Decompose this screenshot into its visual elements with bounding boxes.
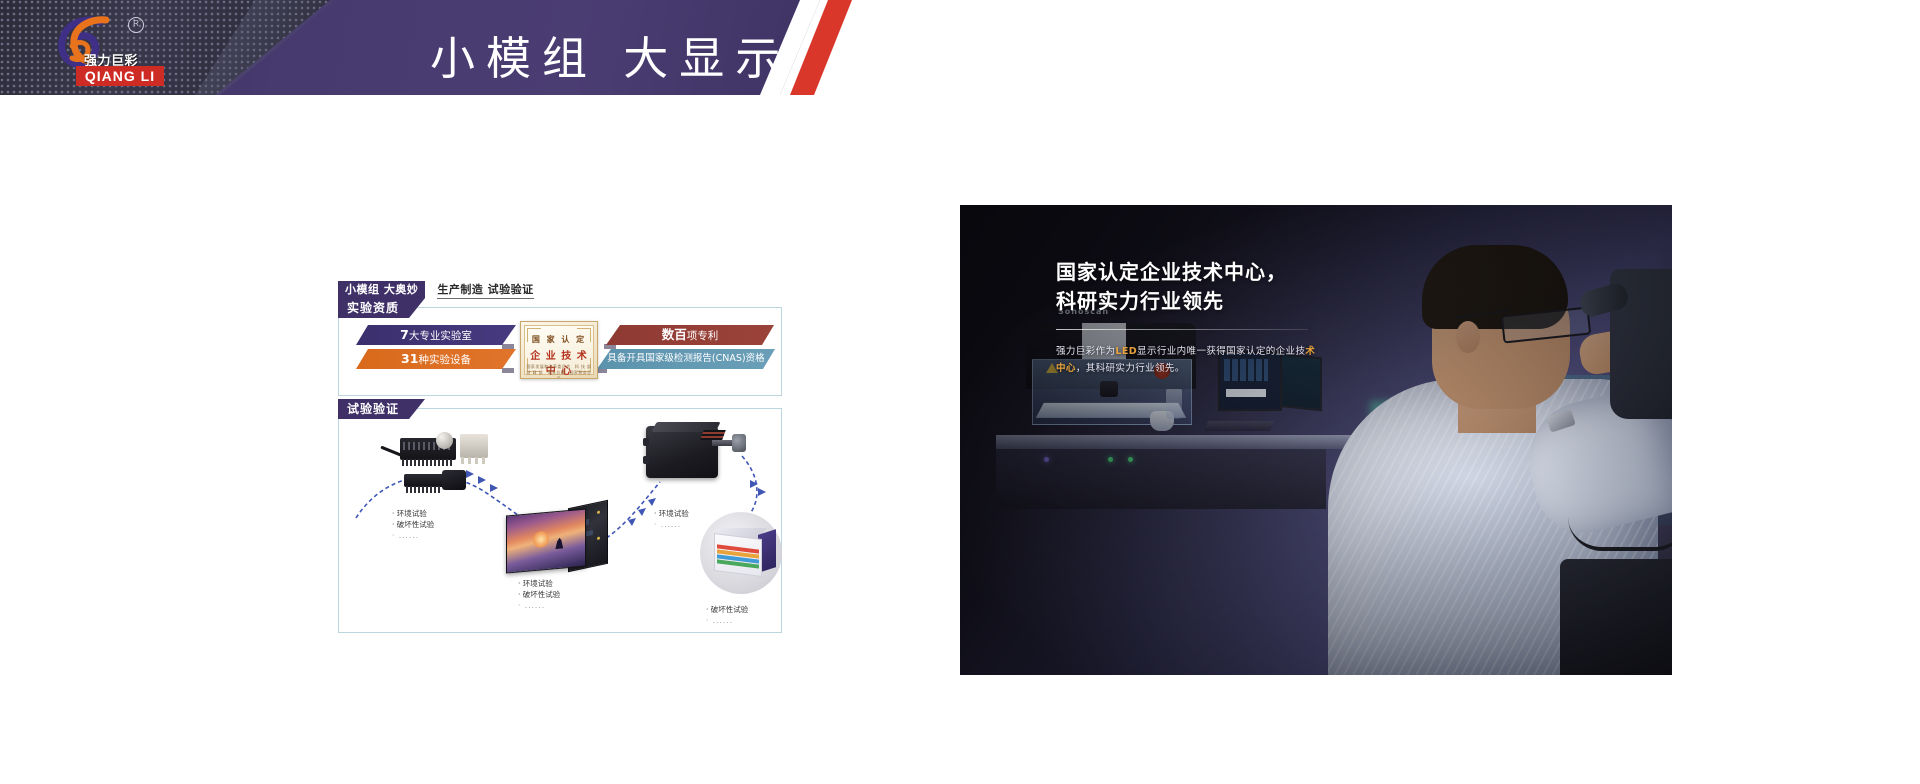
smd-led-image	[442, 470, 466, 490]
node-powerbox-line2: · ......	[654, 519, 689, 530]
power-supply-image	[646, 422, 742, 484]
banner-equipment-text: 种实验设备	[418, 354, 471, 366]
banner-labs-text: 大专业实验室	[409, 330, 472, 342]
node-label-powerbox: · 环境试验 · ......	[654, 508, 689, 530]
module-screen-face	[506, 509, 586, 574]
screen-sun-graphic	[533, 531, 549, 548]
arrow-shadow-2	[502, 368, 514, 373]
photo-card-body: 强力巨彩作为LED显示行业内唯一获得国家认定的企业技术中心，其科研实力行业领先。	[1056, 343, 1318, 377]
carton-front-face	[714, 533, 762, 577]
node-label-module: · 环境试验 · 破坏性试验 · ......	[518, 578, 560, 611]
node-packaging-line1: · 破坏性试验	[706, 604, 748, 615]
dip-ic-legs	[406, 486, 442, 493]
node-label-components: · 环境试验 · 破坏性试验 · ......	[392, 508, 434, 541]
registered-trademark-icon: R	[128, 17, 144, 33]
banner-patents: 数百项专利	[606, 325, 774, 345]
node-module-line2: · 破坏性试验	[518, 589, 560, 600]
photo-card-title: 国家认定企业技术中心， 科研实力行业领先	[1056, 258, 1287, 316]
left-infographic-panel: 小模组 大奥妙生产制造 试验验证 实验资质 7大专业实验室 31种实验设备 数百…	[338, 281, 888, 632]
banner-patents-number: 数百	[662, 327, 687, 342]
packaging-image	[700, 512, 782, 594]
power-supply-cables	[700, 430, 726, 440]
node-components-line3: · ......	[392, 530, 434, 541]
logo-english-name: QIANG LI	[76, 66, 164, 86]
brand-logo: R 强力巨彩 QIANG LI	[46, 14, 166, 86]
connector-legs	[402, 459, 454, 466]
certificate-inner-frame: 国 家 认 定 企 业 技 术 中 心 国家发展和改革委员会 科 技 部 财 政…	[524, 325, 594, 375]
power-supply-tab-1	[643, 438, 649, 446]
certificate-plaque: 国 家 认 定 企 业 技 术 中 心 国家发展和改革委员会 科 技 部 财 政…	[520, 321, 598, 379]
component-cluster-image	[380, 430, 490, 500]
body-highlight-led: LED	[1115, 346, 1137, 357]
node-module-line3: · ......	[518, 600, 560, 611]
certificate-line3: 国家发展和改革委员会 科 技 部 财 政 部 海关总署 国家税务总局	[525, 364, 593, 379]
photo-card-title-line2: 科研实力行业领先	[1056, 287, 1287, 316]
breadcrumb-tag: 小模组 大奥妙	[338, 281, 425, 298]
node-label-packaging: · 破坏性试验 · ......	[706, 604, 748, 626]
banner-cnas: 具备开具国家级检测报告(CNAS)资格	[597, 349, 775, 369]
node-powerbox-line1: · 环境试验	[654, 508, 689, 519]
relay-legs	[461, 457, 487, 464]
led-module-image	[506, 504, 602, 570]
photo-card-divider	[1056, 329, 1308, 330]
power-supply-knob	[732, 434, 746, 452]
page-header: R 强力巨彩 QIANG LI 小模组 大显示	[0, 0, 920, 95]
banner-equipment-number: 31	[401, 351, 418, 366]
body-mid: 显示行业内唯一获得国家认定的企业技	[1137, 346, 1305, 357]
banner-patents-text: 项专利	[687, 330, 719, 342]
node-packaging-line2: · ......	[706, 615, 748, 626]
banner-equipment: 31种实验设备	[356, 349, 516, 369]
photo-card-title-line1: 国家认定企业技术中心，	[1056, 258, 1287, 287]
body-pre: 强力巨彩作为	[1056, 346, 1115, 357]
breadcrumb: 小模组 大奥妙生产制造 试验验证	[338, 281, 534, 298]
verification-flow: · 环境试验 · 破坏性试验 · ...... · 环境试验 · 破坏性试验 ·…	[338, 408, 780, 631]
certificate-line1: 国 家 认 定	[525, 334, 593, 345]
node-module-line1: · 环境试验	[518, 578, 560, 589]
banner-labs-number: 7	[400, 327, 409, 342]
page-title: 小模组 大显示	[430, 22, 791, 87]
breadcrumb-subtitle: 生产制造 试验验证	[437, 281, 533, 299]
banner-labs: 7大专业实验室	[356, 325, 516, 345]
lab-photo-card: Sonoscan 厦门强力巨彩	[960, 205, 1672, 675]
arrow-shadow-1	[502, 344, 514, 349]
power-supply-tab-2	[643, 456, 649, 464]
node-components-line1: · 环境试验	[392, 508, 434, 519]
led-dome-image	[436, 432, 453, 449]
logo-red-bar: QIANG LI	[76, 66, 164, 86]
relay-image	[460, 434, 488, 458]
node-components-line2: · 破坏性试验	[392, 519, 434, 530]
screen-cyclist-graphic	[553, 535, 565, 549]
banner-cnas-text: 具备开具国家级检测报告(CNAS)资格	[607, 353, 764, 364]
body-post: ，其科研实力行业领先。	[1076, 363, 1185, 374]
